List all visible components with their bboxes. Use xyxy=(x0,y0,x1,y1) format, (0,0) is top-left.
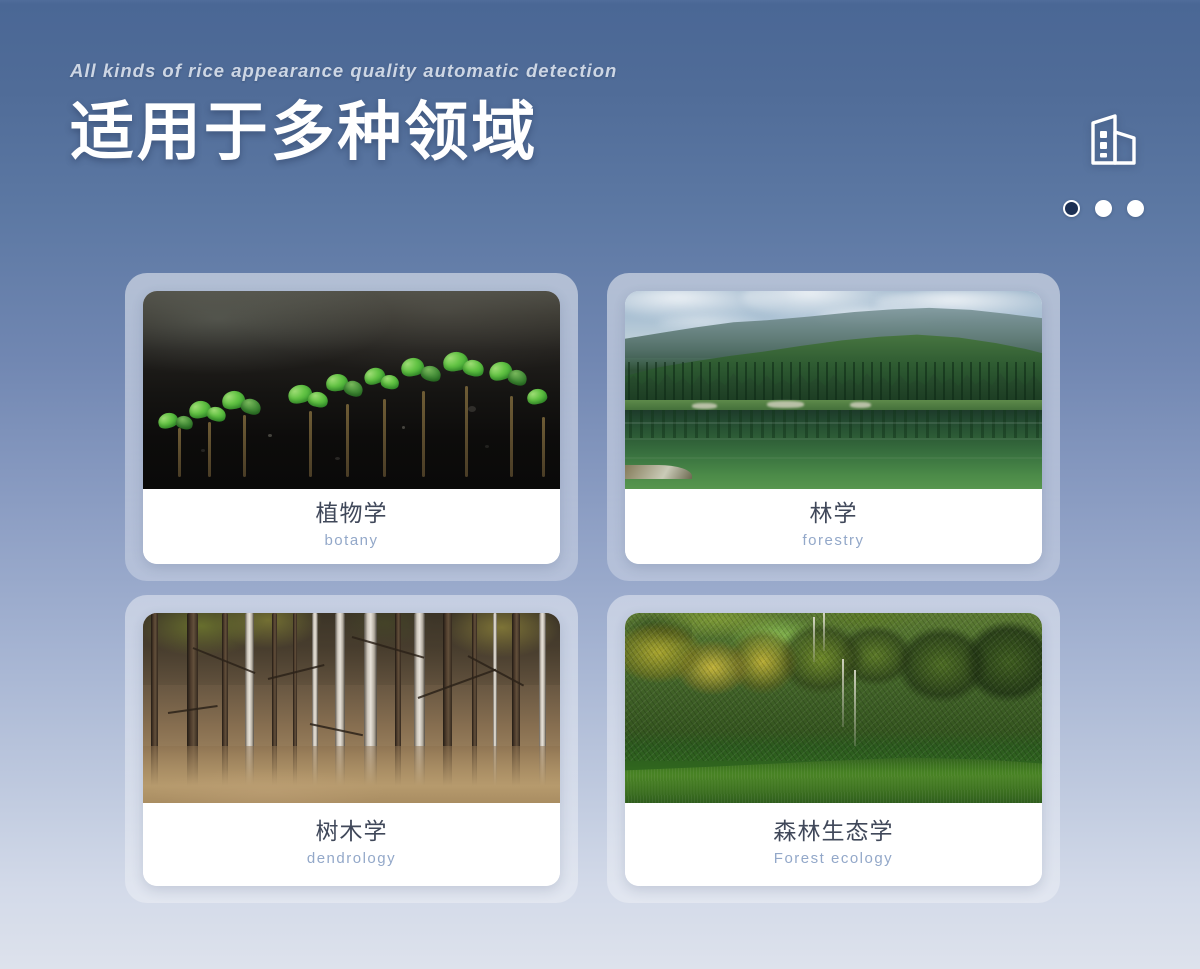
domain-card-dendrology[interactable]: 树木学 dendrology xyxy=(125,595,578,903)
card-caption: 树木学 dendrology xyxy=(143,803,560,886)
birch-forest-photo xyxy=(143,613,560,803)
card-title-en: botany xyxy=(324,532,378,550)
domain-card-botany[interactable]: 植物学 botany xyxy=(125,273,578,581)
card-caption: 林学 forestry xyxy=(625,489,1042,564)
card-caption: 植物学 botany xyxy=(143,489,560,564)
card-title-cn: 树木学 xyxy=(315,817,387,846)
carousel-dot-2[interactable] xyxy=(1095,200,1112,217)
card-caption: 森林生态学 Forest ecology xyxy=(625,803,1042,886)
eyebrow-text: All kinds of rice appearance quality aut… xyxy=(70,60,617,82)
seedlings-in-soil-photo xyxy=(143,291,560,489)
card-title-cn: 植物学 xyxy=(315,499,387,528)
card-title-en: forestry xyxy=(802,532,864,550)
card-title-en: Forest ecology xyxy=(774,850,893,868)
card-body: 植物学 botany xyxy=(143,291,560,564)
forest-edge-meadow-photo xyxy=(625,613,1042,803)
domain-card-grid: 植物学 botany xyxy=(125,273,1060,903)
carousel-dot-1[interactable] xyxy=(1063,200,1080,217)
carousel-dots[interactable] xyxy=(1063,200,1144,217)
domain-card-forest-ecology[interactable]: 森林生态学 Forest ecology xyxy=(607,595,1060,903)
card-title-cn: 林学 xyxy=(809,499,857,528)
card-body: 树木学 dendrology xyxy=(143,613,560,886)
domain-card-forestry[interactable]: 林学 forestry xyxy=(607,273,1060,581)
forest-lake-photo xyxy=(625,291,1042,489)
card-title-cn: 森林生态学 xyxy=(773,817,893,846)
page-title: 适用于多种领域 xyxy=(70,98,617,167)
card-title-en: dendrology xyxy=(307,850,396,868)
header: All kinds of rice appearance quality aut… xyxy=(70,60,617,167)
slide-canvas: All kinds of rice appearance quality aut… xyxy=(0,0,1200,969)
building-icon xyxy=(1082,110,1146,174)
carousel-dot-3[interactable] xyxy=(1127,200,1144,217)
card-body: 林学 forestry xyxy=(625,291,1042,564)
card-body: 森林生态学 Forest ecology xyxy=(625,613,1042,886)
